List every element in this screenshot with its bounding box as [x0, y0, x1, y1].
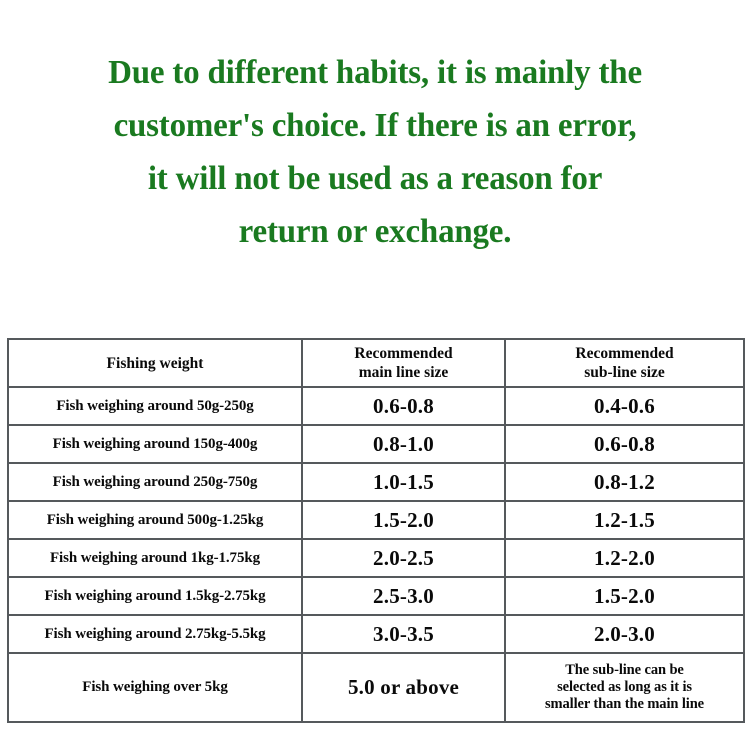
table-row: Fish weighing around 1kg-1.75kg 2.0-2.5 … [8, 539, 744, 577]
page-heading: Due to different habits, it is mainly th… [0, 46, 750, 258]
cell-fishing-weight: Fish weighing around 250g-750g [8, 463, 302, 501]
heading-line-1: Due to different habits, it is mainly th… [11, 46, 739, 99]
cell-main-line-size: 2.0-2.5 [302, 539, 505, 577]
cell-main-line-size: 5.0 or above [302, 653, 505, 722]
cell-sub-line-size: 1.2-2.0 [505, 539, 744, 577]
cell-fishing-weight: Fish weighing around 2.75kg-5.5kg [8, 615, 302, 653]
cell-sub-line-note-line3: smaller than the main line [510, 696, 739, 713]
cell-main-line-size: 0.6-0.8 [302, 387, 505, 425]
cell-sub-line-size: 1.5-2.0 [505, 577, 744, 615]
cell-main-line-size: 0.8-1.0 [302, 425, 505, 463]
table-row: Fish weighing around 150g-400g 0.8-1.0 0… [8, 425, 744, 463]
cell-fishing-weight: Fish weighing around 1.5kg-2.75kg [8, 577, 302, 615]
table-row: Fish weighing over 5kg 5.0 or above The … [8, 653, 744, 722]
column-header-fishing-weight-label: Fishing weight [107, 355, 204, 372]
cell-sub-line-size: 1.2-1.5 [505, 501, 744, 539]
table-row: Fish weighing around 2.75kg-5.5kg 3.0-3.… [8, 615, 744, 653]
cell-main-line-size: 2.5-3.0 [302, 577, 505, 615]
cell-main-line-size: 1.5-2.0 [302, 501, 505, 539]
column-header-main-line-size-line1: Recommended [307, 344, 500, 363]
cell-sub-line-note-line1: The sub-line can be [510, 662, 739, 679]
table-header-row: Fishing weight Recommended main line siz… [8, 339, 744, 387]
cell-main-line-size: 1.0-1.5 [302, 463, 505, 501]
fishing-line-size-table: Fishing weight Recommended main line siz… [7, 338, 745, 723]
table-header: Fishing weight Recommended main line siz… [8, 339, 744, 387]
cell-sub-line-note-line2: selected as long as it is [510, 679, 739, 696]
cell-sub-line-size: 0.6-0.8 [505, 425, 744, 463]
column-header-sub-line-size: Recommended sub-line size [505, 339, 744, 387]
cell-fishing-weight: Fish weighing around 50g-250g [8, 387, 302, 425]
table-row: Fish weighing around 500g-1.25kg 1.5-2.0… [8, 501, 744, 539]
table-row: Fish weighing around 250g-750g 1.0-1.5 0… [8, 463, 744, 501]
cell-sub-line-size: The sub-line can be selected as long as … [505, 653, 744, 722]
column-header-sub-line-size-line1: Recommended [510, 344, 739, 363]
table-body: Fish weighing around 50g-250g 0.6-0.8 0.… [8, 387, 744, 722]
cell-fishing-weight: Fish weighing around 500g-1.25kg [8, 501, 302, 539]
cell-main-line-size: 3.0-3.5 [302, 615, 505, 653]
cell-fishing-weight: Fish weighing around 1kg-1.75kg [8, 539, 302, 577]
cell-sub-line-size: 0.8-1.2 [505, 463, 744, 501]
column-header-main-line-size: Recommended main line size [302, 339, 505, 387]
column-header-fishing-weight: Fishing weight [8, 339, 302, 387]
heading-line-2: customer's choice. If there is an error, [11, 99, 739, 152]
heading-line-4: return or exchange. [11, 205, 739, 258]
column-header-main-line-size-line2: main line size [307, 363, 500, 382]
cell-sub-line-size: 0.4-0.6 [505, 387, 744, 425]
table-row: Fish weighing around 50g-250g 0.6-0.8 0.… [8, 387, 744, 425]
cell-fishing-weight: Fish weighing around 150g-400g [8, 425, 302, 463]
column-header-sub-line-size-line2: sub-line size [510, 363, 739, 382]
heading-line-3: it will not be used as a reason for [11, 152, 739, 205]
cell-fishing-weight: Fish weighing over 5kg [8, 653, 302, 722]
cell-sub-line-size: 2.0-3.0 [505, 615, 744, 653]
fishing-line-size-table-container: Fishing weight Recommended main line siz… [7, 338, 743, 723]
table-row: Fish weighing around 1.5kg-2.75kg 2.5-3.… [8, 577, 744, 615]
